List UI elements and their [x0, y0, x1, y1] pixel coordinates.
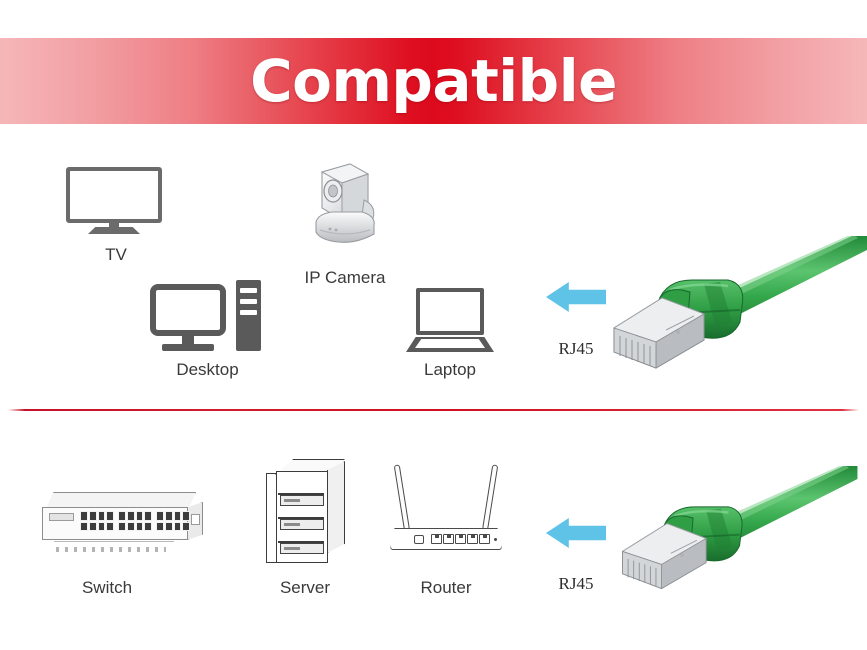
server-rack-icon [262, 455, 348, 565]
tv-base [88, 227, 140, 234]
desktop-computer-icon [150, 284, 265, 354]
desktop-tower [236, 280, 261, 351]
desktop-monitor [150, 284, 226, 336]
server-blade [280, 495, 324, 506]
router-lan-port [431, 534, 442, 544]
desktop-monitor-base [162, 344, 214, 351]
left-arrow-icon-bottom [546, 518, 606, 548]
server-blade [280, 519, 324, 530]
server-side-panel [327, 461, 345, 553]
router-lan-port [479, 534, 490, 544]
switch-vent [191, 514, 200, 525]
switch-label-strip [56, 547, 166, 552]
tv-screen [66, 167, 162, 223]
section-divider [8, 409, 859, 411]
label-laptop: Laptop [400, 360, 500, 380]
router-lan-port [443, 534, 454, 544]
header-banner: Compatible [0, 38, 867, 124]
server-blade [280, 543, 324, 554]
wireless-router-icon [390, 462, 502, 562]
label-switch: Switch [57, 578, 157, 598]
router-antenna-right [482, 464, 498, 530]
network-switch-icon [42, 492, 202, 554]
switch-shadow-line [54, 541, 174, 542]
ip-camera-icon [306, 160, 384, 252]
router-power-jack [414, 535, 424, 544]
router-lan-port [455, 534, 466, 544]
label-router: Router [396, 578, 496, 598]
router-lan-port [467, 534, 478, 544]
switch-port-group-3 [156, 511, 190, 531]
switch-port-group-2 [118, 511, 152, 531]
router-antenna-left [394, 464, 410, 530]
router-led [494, 538, 497, 541]
television-icon [66, 167, 166, 235]
laptop-screen [416, 288, 484, 335]
label-tv: TV [66, 245, 166, 265]
page-title: Compatible [0, 38, 867, 124]
green-rj45-patch-cable-bottom [600, 466, 867, 596]
ip-camera-svg [306, 160, 384, 252]
label-ip-camera: IP Camera [285, 268, 405, 288]
switch-display [49, 513, 74, 521]
compatibility-diagram: Compatible TV [0, 0, 867, 650]
left-arrow-icon-top [546, 282, 606, 312]
label-desktop: Desktop [150, 360, 265, 380]
switch-port-group-1 [80, 511, 114, 531]
green-rj45-patch-cable-top [600, 236, 867, 376]
label-server: Server [255, 578, 355, 598]
laptop-keyboard-deck [415, 339, 485, 348]
laptop-icon [406, 288, 494, 354]
